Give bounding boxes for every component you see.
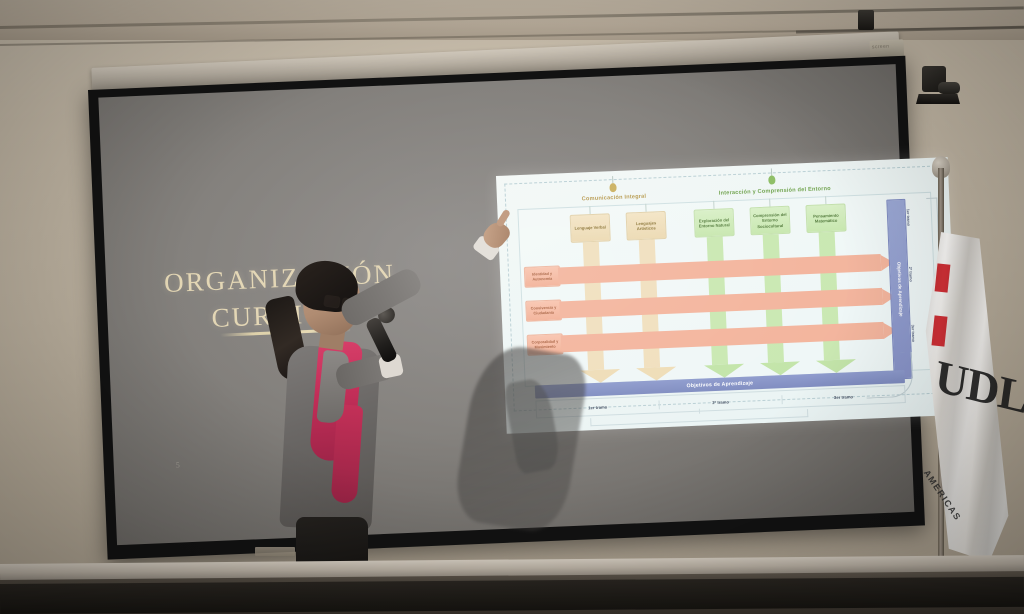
projection-screen-frame: ORGANIZACIÓN CURRICUL Comunicación Integ… <box>88 56 925 560</box>
flag: UDLA AMERICAS <box>908 168 1024 588</box>
projection-screen-surface: ORGANIZACIÓN CURRICUL Comunicación Integ… <box>98 64 914 545</box>
column-label: Comprensión del Entorno Sociocultural <box>749 206 790 236</box>
leaf-icon-interaccion <box>768 175 775 184</box>
diagram-row-label-convivencia: Convivencia y Ciudadanía <box>525 299 562 321</box>
header-stem-comunicacion <box>612 176 613 183</box>
leaf-icon-comunicacion <box>609 183 616 192</box>
diagram-row-label-corporalidad: Corporalidad y Movimiento <box>527 333 564 355</box>
column-label: Pensamiento Matemático <box>805 203 846 233</box>
side-objectives-label: Objetivos de Aprendizaje <box>896 262 903 317</box>
tramo-1: 1er tramo <box>537 402 659 412</box>
tramo-2: 2º tramo <box>660 397 782 407</box>
column-label: Lenguajes Artísticos <box>626 211 667 241</box>
slide-page-number: 5 <box>176 460 180 469</box>
column-label: Lenguaje Verbal <box>570 213 611 243</box>
wall-vent <box>255 547 295 556</box>
bottom-bracket-stem <box>699 409 700 414</box>
speaker-arm <box>938 82 960 94</box>
speaker-base <box>916 94 960 104</box>
tramo-3: 3er tramo <box>782 392 904 402</box>
photo-scene: screen ORGANIZACIÓN CURRICUL Comunicació… <box>0 0 1024 614</box>
flag-logo-text: UDLA <box>923 349 1018 487</box>
column-label: Exploración del Entorno Natural <box>694 208 735 238</box>
projector-mount-icon <box>858 10 874 30</box>
screen-housing-label: screen <box>872 44 890 51</box>
diagram-row-label-identidad: Identidad y Autonomía <box>524 265 561 287</box>
wall-speaker-icon <box>916 62 960 110</box>
slide-diagram: Comunicación Integral Interacción y Comp… <box>496 157 958 434</box>
